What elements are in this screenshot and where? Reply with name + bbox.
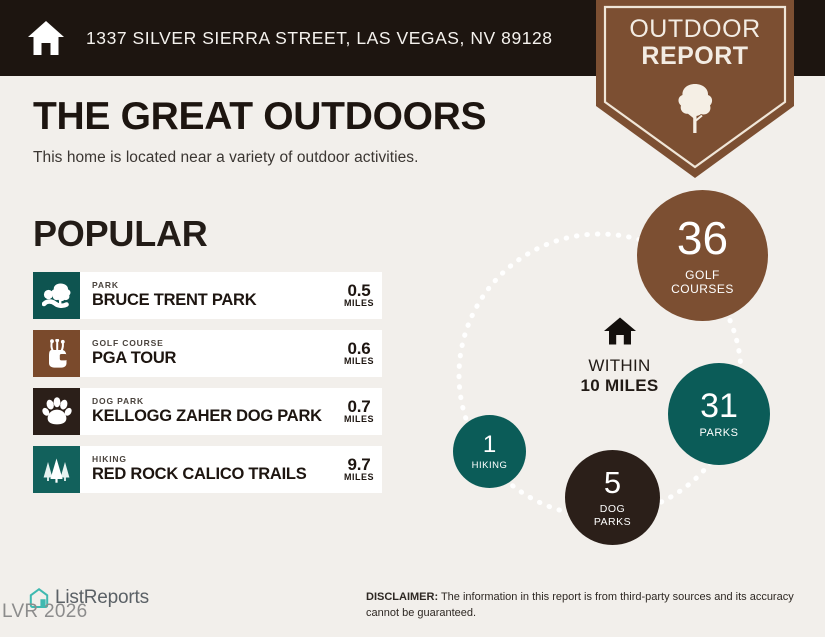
center-label-line1: WITHIN xyxy=(537,357,702,376)
stat-value: 1 xyxy=(483,433,496,457)
stat-value: 31 xyxy=(700,389,738,423)
poi-category: HIKING xyxy=(92,455,307,464)
poi-miles-unit: MILES xyxy=(344,299,374,309)
poi-category: GOLF COURSE xyxy=(92,339,176,348)
poi-texts: DOG PARK KELLOGG ZAHER DOG PARK xyxy=(92,397,322,426)
table-row[interactable]: HIKING RED ROCK CALICO TRAILS 9.7 MILES xyxy=(33,446,382,493)
page-subtitle: This home is located near a variety of o… xyxy=(33,149,578,167)
poi-texts: PARK BRUCE TRENT PARK xyxy=(92,281,256,310)
poi-distance: 9.7 MILES xyxy=(340,456,374,484)
stat-label: GOLF COURSES xyxy=(671,268,734,296)
poi-category: DOG PARK xyxy=(92,397,322,406)
stat-label: HIKING xyxy=(472,461,508,471)
poi-name: PGA TOUR xyxy=(92,349,176,368)
table-row[interactable]: GOLF COURSE PGA TOUR 0.6 MILES xyxy=(33,330,382,377)
poi-icon-tile xyxy=(33,272,80,319)
table-row[interactable]: PARK BRUCE TRENT PARK 0.5 MILES xyxy=(33,272,382,319)
poi-body: HIKING RED ROCK CALICO TRAILS 9.7 MILES xyxy=(80,446,382,493)
poi-icon-tile xyxy=(33,388,80,435)
page-title: THE GREAT OUTDOORS xyxy=(33,96,578,138)
stat-bubble-golf-courses[interactable]: 36 GOLF COURSES xyxy=(637,190,768,321)
stat-label-line1: DOG xyxy=(594,503,631,515)
poi-miles-unit: MILES xyxy=(344,415,374,425)
stat-bubble-hiking[interactable]: 1 HIKING xyxy=(453,415,526,488)
table-row[interactable]: DOG PARK KELLOGG ZAHER DOG PARK 0.7 MILE… xyxy=(33,388,382,435)
stat-label: DOG PARKS xyxy=(594,503,631,528)
poi-miles-unit: MILES xyxy=(344,357,374,367)
poi-name: BRUCE TRENT PARK xyxy=(92,291,256,310)
property-address: 1337 SILVER SIERRA STREET, LAS VEGAS, NV… xyxy=(86,28,553,49)
poi-body: GOLF COURSE PGA TOUR 0.6 MILES xyxy=(80,330,382,377)
home-icon xyxy=(26,19,66,57)
stat-value: 5 xyxy=(604,467,621,498)
poi-miles-value: 0.6 xyxy=(344,340,374,358)
poi-miles-unit: MILES xyxy=(344,473,374,483)
popular-heading: POPULAR xyxy=(33,213,208,255)
tree-icon xyxy=(676,82,714,134)
poi-icon-tile xyxy=(33,446,80,493)
golf-bag-icon xyxy=(44,339,70,369)
poi-body: DOG PARK KELLOGG ZAHER DOG PARK 0.7 MILE… xyxy=(80,388,382,435)
poi-name: RED ROCK CALICO TRAILS xyxy=(92,465,307,484)
stat-value: 36 xyxy=(677,215,728,261)
disclaimer-label: DISCLAIMER: xyxy=(366,591,438,603)
within-10-miles-bubble-chart: 36 GOLF COURSES 31 PARKS 5 DOG PARKS 1 H… xyxy=(432,176,807,558)
poi-distance: 0.6 MILES xyxy=(340,340,374,368)
poi-distance: 0.7 MILES xyxy=(340,398,374,426)
poi-body: PARK BRUCE TRENT PARK 0.5 MILES xyxy=(80,272,382,319)
stat-label: PARKS xyxy=(700,428,739,439)
poi-name: KELLOGG ZAHER DOG PARK xyxy=(92,407,322,426)
diagram-center-label: WITHIN 10 MILES xyxy=(537,316,702,395)
poi-miles-value: 0.7 xyxy=(344,398,374,416)
pine-trees-icon xyxy=(41,457,72,483)
park-tree-icon xyxy=(42,282,72,310)
disclaimer: DISCLAIMER: The information in this repo… xyxy=(366,590,794,621)
stat-label-line2: COURSES xyxy=(671,282,734,296)
lvr-watermark: LVR 2026 xyxy=(2,601,88,623)
poi-texts: GOLF COURSE PGA TOUR xyxy=(92,339,176,368)
poi-icon-tile xyxy=(33,330,80,377)
poi-texts: HIKING RED ROCK CALICO TRAILS xyxy=(92,455,307,484)
hero-section: THE GREAT OUTDOORS This home is located … xyxy=(33,96,578,167)
poi-miles-value: 0.5 xyxy=(344,282,374,300)
popular-poi-list: PARK BRUCE TRENT PARK 0.5 MILES xyxy=(33,272,382,504)
center-label-line2: 10 MILES xyxy=(537,376,702,396)
stat-bubble-dog-parks[interactable]: 5 DOG PARKS xyxy=(565,450,660,545)
paw-print-icon xyxy=(42,397,72,426)
poi-miles-value: 9.7 xyxy=(344,456,374,474)
stat-label-line1: GOLF xyxy=(671,268,734,282)
poi-distance: 0.5 MILES xyxy=(340,282,374,310)
poi-category: PARK xyxy=(92,281,256,290)
stat-label-line2: PARKS xyxy=(594,516,631,528)
home-icon xyxy=(603,316,637,346)
outdoor-report-badge: OUTDOOR REPORT xyxy=(596,0,794,178)
